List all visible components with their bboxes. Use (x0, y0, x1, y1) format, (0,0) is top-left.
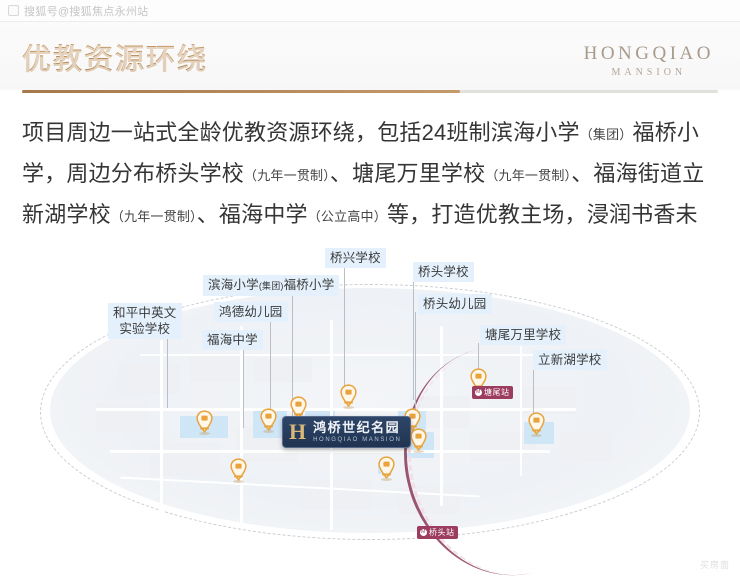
project-name-en: HONGQIAO MANSION (313, 437, 401, 443)
map-label[interactable]: 桥头学校 (413, 262, 474, 282)
map-pin-icon[interactable] (230, 458, 247, 481)
brand-logo: HONGQIAO MANSION (584, 44, 714, 78)
copy-line2-a: 学，周边分布桥头学校 (22, 161, 244, 186)
map-label[interactable]: 桥头幼儿园 (418, 294, 492, 314)
map-pin-icon[interactable] (528, 412, 545, 435)
page-title: 优教资源环绕 (22, 36, 208, 78)
copy-line1-b: 福桥小 (633, 120, 700, 145)
source-bar: 搜狐号@搜狐焦点永州站 (0, 0, 740, 22)
map-label-leader (344, 266, 345, 396)
map-label-leader (415, 312, 416, 422)
map-pin-icon[interactable] (260, 408, 277, 431)
copy-line2-b: 、塘尾万里学校 (330, 161, 485, 186)
map-pin-icon[interactable] (196, 410, 213, 433)
metro-icon: M (420, 529, 427, 536)
copy-line3-annotation-1: （九年一贯制） (111, 209, 197, 224)
project-logo-h: H (289, 422, 306, 442)
location-map[interactable]: 和平中英文实验学校福海中学鸿德幼儿园滨海小学(集团)福桥小学桥兴学校桥头学校桥头… (0, 236, 740, 579)
map-label[interactable]: 桥兴学校 (325, 248, 386, 268)
source-label: 搜狐号@搜狐焦点永州站 (24, 3, 148, 19)
map-label[interactable]: 塘尾万里学校 (480, 325, 566, 345)
map-pin-icon[interactable] (378, 456, 395, 479)
map-label[interactable]: 立新湖学校 (533, 350, 607, 370)
map-label-leader (167, 336, 168, 408)
header-divider (22, 90, 718, 93)
map-label-leader (413, 280, 414, 400)
metro-icon: M (475, 389, 482, 396)
square-icon (8, 5, 19, 16)
project-name-badge[interactable]: H 鸿桥世纪名园 HONGQIAO MANSION (282, 416, 411, 448)
map-label[interactable]: 滨海小学(集团)福桥小学 (203, 275, 339, 296)
copy-line2-annotation-1: （九年一贯制） (244, 168, 330, 183)
copy-line1-a: 项目周边一站式全龄优教资源环绕，包括24班制滨海小学 (22, 120, 580, 145)
metro-station-label[interactable]: M塘尾站 (472, 386, 513, 399)
copy-line3-a: 湖学校 (44, 202, 111, 227)
project-name-cn: 鸿桥世纪名园 (313, 421, 401, 435)
map-pin-icon[interactable] (410, 428, 427, 451)
map-watermark: 买房面 (700, 558, 730, 571)
copy-line3-b: 、福海中学 (197, 202, 308, 227)
brand-name: HONGQIAO (584, 44, 714, 65)
divider-accent (22, 90, 460, 93)
copy-line1-annotation: （集团） (580, 127, 633, 142)
metro-station-label[interactable]: M桥头站 (417, 526, 458, 539)
brand-subtitle: MANSION (584, 67, 714, 78)
copy-line3-annotation-2: （公立高中） (308, 209, 387, 224)
page-header: 优教资源环绕 HONGQIAO MANSION (0, 22, 740, 90)
map-pin-icon[interactable] (340, 384, 357, 407)
map-label[interactable]: 鸿德幼儿园 (214, 302, 288, 322)
map-label[interactable]: 福海中学 (202, 330, 263, 350)
map-label[interactable]: 和平中英文实验学校 (108, 303, 182, 339)
copy-line2-annotation-2: （九年一贯制） (485, 168, 571, 183)
map-label-leader (243, 348, 244, 428)
